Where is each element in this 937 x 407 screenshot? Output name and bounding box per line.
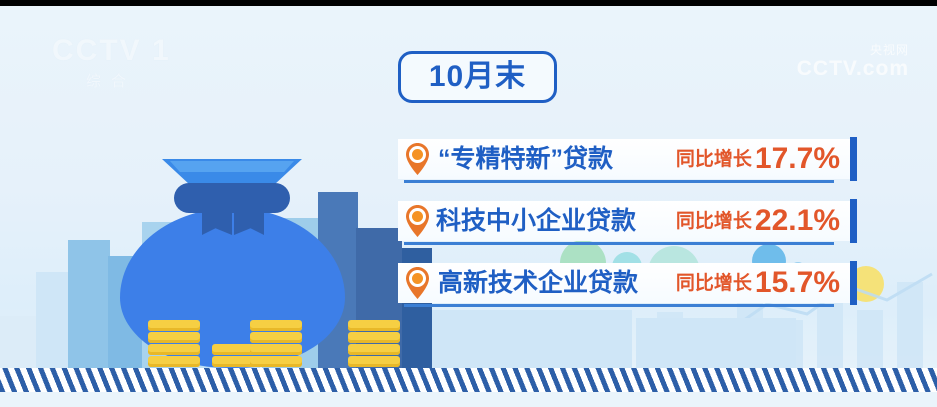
cctv-channel-number: 1: [152, 34, 171, 67]
letterbox-top-bar: [0, 0, 937, 6]
diagonal-stripe-band: [0, 368, 937, 392]
map-pin-icon: [404, 204, 431, 238]
cctv-channel-sub: 综合: [86, 74, 192, 89]
data-row: 高新技术企业贷款 同比增长 15.7%: [398, 263, 850, 303]
building: [36, 272, 70, 368]
bottom-base-strip: [0, 392, 937, 407]
coin-stack: [250, 320, 302, 368]
data-row: 科技中小企业贷款 同比增长 22.1%: [398, 201, 850, 241]
building: [68, 240, 110, 368]
coin-stack: [348, 320, 400, 368]
map-pin-icon: [404, 266, 431, 300]
cctv-com-text: CCTV.com: [797, 58, 909, 79]
row-label: 科技中小企业贷款: [436, 209, 636, 234]
row-end-bar: [850, 137, 857, 181]
building: [0, 316, 38, 368]
cctv-com-watermark: 央视网 CCTV.com: [797, 44, 909, 79]
row-label: “专精特新”贷款: [438, 147, 613, 172]
row-value: 15.7%: [755, 268, 840, 298]
row-underline: [404, 304, 834, 307]
row-underline: [404, 242, 834, 245]
cctv-channel-watermark: CCTV 1 综合: [52, 36, 192, 102]
coin-stack: [148, 320, 200, 368]
row-growth-prefix: 同比增长: [676, 274, 752, 293]
row-growth-prefix: 同比增长: [676, 150, 752, 169]
period-pill: 10月末: [398, 51, 557, 103]
building: [432, 310, 632, 368]
row-underline: [404, 180, 834, 183]
building: [636, 318, 796, 368]
period-label: 10月末: [429, 62, 526, 92]
row-growth-prefix: 同比增长: [676, 212, 752, 231]
row-label: 高新技术企业贷款: [438, 271, 638, 296]
cctv-com-cn-text: 央视网: [797, 44, 909, 56]
cctv-logo-text: CCTV: [52, 34, 142, 67]
map-pin-icon: [404, 142, 431, 176]
row-end-bar: [850, 261, 857, 305]
data-row: “专精特新”贷款 同比增长 17.7%: [398, 139, 850, 179]
row-value: 22.1%: [755, 206, 840, 236]
row-end-bar: [850, 199, 857, 243]
infographic-stage: CCTV 1 综合 央视网 CCTV.com 10月末 “专精特新”贷款 同比增…: [0, 0, 937, 407]
row-value: 17.7%: [755, 144, 840, 174]
